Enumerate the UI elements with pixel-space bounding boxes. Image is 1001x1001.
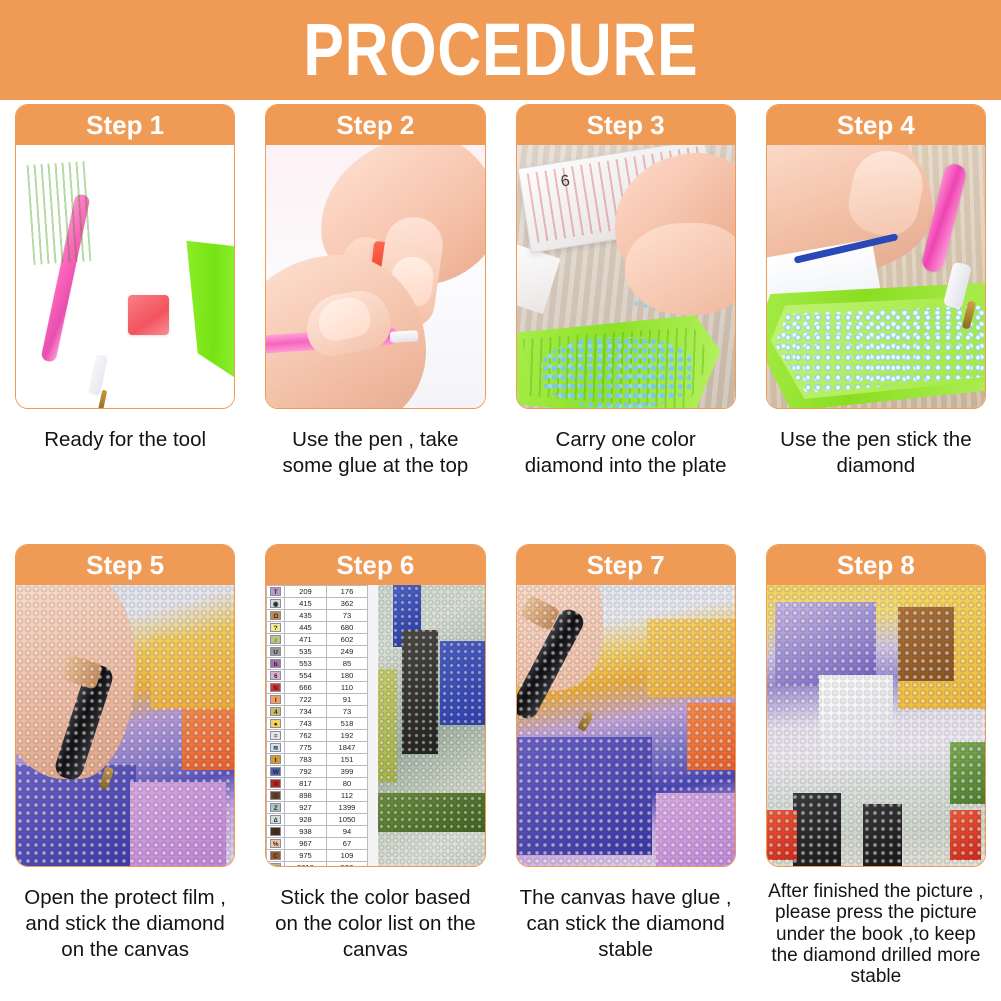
step-badge-4: Step 4 xyxy=(767,105,985,145)
step-cell-5: Step 5 Open the protect film , and xyxy=(0,544,250,1001)
color-code-cell: 783 xyxy=(285,754,327,766)
color-symbol-cell: ≋ xyxy=(267,742,285,754)
white-region xyxy=(819,675,893,771)
pen-tip-icon xyxy=(390,330,419,342)
step-cell-8: Step 8 After finished xyxy=(751,544,1001,1001)
yellow-region xyxy=(151,636,234,709)
color-count-cell: 67 xyxy=(326,838,368,850)
color-swatch: C xyxy=(270,851,281,860)
color-code-row: 473473 xyxy=(267,706,368,718)
step-card-6: Step 6 T209176◉415362Ω43573?445680♪47160… xyxy=(265,544,485,867)
color-symbol-cell: Y xyxy=(267,862,285,867)
color-swatch: % xyxy=(270,839,281,848)
dark-region xyxy=(402,630,438,754)
step-card-3: Step 3 6 xyxy=(516,104,736,409)
color-code-cell: 471 xyxy=(285,634,327,646)
color-code-cell: 535 xyxy=(285,646,327,658)
color-swatch: ✕ xyxy=(270,779,281,788)
color-code-cell: 722 xyxy=(285,694,327,706)
color-symbol-cell: N xyxy=(267,682,285,694)
color-code-row: 6554180 xyxy=(267,670,368,682)
color-code-cell: 734 xyxy=(285,706,327,718)
color-symbol-cell: ◉ xyxy=(267,598,285,610)
step-image-7 xyxy=(517,585,735,866)
step-caption-6: Stick the color based on the color list … xyxy=(265,885,485,964)
color-symbol-cell: W xyxy=(267,766,285,778)
green-region xyxy=(378,793,484,832)
canvas-mosaic xyxy=(16,585,234,866)
step-badge-label: Step 5 xyxy=(86,552,164,578)
yellow-region xyxy=(647,619,734,698)
step-caption-3: Carry one color diamond into the plate xyxy=(516,427,736,479)
step-card-1: Step 1 xyxy=(15,104,235,409)
color-code-cell: 775 xyxy=(285,742,327,754)
color-count-cell: 80 xyxy=(326,778,368,790)
color-code-cell: 817 xyxy=(285,778,327,790)
step-badge-label: Step 4 xyxy=(837,112,915,138)
color-count-cell: 1050 xyxy=(326,814,368,826)
color-code-row: N666110 xyxy=(267,682,368,694)
dark-figure-region xyxy=(863,804,902,866)
steps-grid: Step 1 Ready for the tool xyxy=(0,104,1001,1001)
color-swatch: ● xyxy=(270,719,281,728)
color-symbol-cell: G xyxy=(267,790,285,802)
color-swatch: Z xyxy=(270,803,281,812)
step-badge-label: Step 6 xyxy=(336,552,414,578)
color-symbol-cell: 6 xyxy=(267,670,285,682)
color-symbol-cell: I xyxy=(267,694,285,706)
color-code-row: b55385 xyxy=(267,658,368,670)
color-code-row: Ω43573 xyxy=(267,610,368,622)
color-symbol-cell: 4 xyxy=(267,706,285,718)
color-count-cell: 109 xyxy=(326,850,368,862)
color-symbol-cell: = xyxy=(267,730,285,742)
color-count-cell: 112 xyxy=(326,790,368,802)
tool-set-illustration xyxy=(16,145,234,408)
finished-canvas-mosaic xyxy=(767,585,985,866)
step-badge-3: Step 3 xyxy=(517,105,735,145)
step-cell-6: Step 6 T209176◉415362Ω43573?445680♪47160… xyxy=(250,544,500,1001)
color-symbol-cell: 3 xyxy=(267,826,285,838)
color-count-cell: 91 xyxy=(326,694,368,706)
step-badge-1: Step 1 xyxy=(16,105,234,145)
blue-region xyxy=(517,737,652,855)
color-code-cell: 743 xyxy=(285,718,327,730)
fingers-icon xyxy=(625,223,735,315)
color-symbol-cell: t xyxy=(267,754,285,766)
violet-region xyxy=(656,793,735,866)
color-count-cell: 518 xyxy=(326,718,368,730)
color-code-cell: 967 xyxy=(285,838,327,850)
color-swatch: b xyxy=(270,659,281,668)
step-caption-2: Use the pen , take some glue at the top xyxy=(265,427,485,479)
color-swatch: W xyxy=(270,767,281,776)
color-swatch: ◉ xyxy=(270,599,281,608)
color-code-table-body: T209176◉415362Ω43573?445680♪471602U53524… xyxy=(267,586,368,867)
color-code-row: 393894 xyxy=(267,826,368,838)
canvas-mosaic xyxy=(517,585,735,866)
color-code-cell: 3013 xyxy=(285,862,327,867)
step-cell-3: Step 3 6 xyxy=(501,104,751,544)
blue-region xyxy=(440,641,485,725)
color-code-cell: 938 xyxy=(285,826,327,838)
color-code-row: T209176 xyxy=(267,586,368,598)
step-cell-1: Step 1 Ready for the tool xyxy=(0,104,250,544)
color-swatch: t xyxy=(270,755,281,764)
color-symbol-cell: ● xyxy=(267,718,285,730)
step-card-8: Step 8 xyxy=(766,544,986,867)
color-count-cell: 73 xyxy=(326,706,368,718)
step-badge-label: Step 8 xyxy=(837,552,915,578)
step-caption-4: Use the pen stick the diamond xyxy=(766,427,986,479)
glue-wax-square-icon xyxy=(128,295,169,335)
color-code-row: I72291 xyxy=(267,694,368,706)
pick-diamond-photo xyxy=(767,145,985,408)
step-caption-5: Open the protect film , and stick the di… xyxy=(15,885,235,964)
color-swatch: ? xyxy=(270,623,281,632)
color-swatch: Ω xyxy=(270,611,281,620)
step-card-5: Step 5 xyxy=(15,544,235,867)
step-badge-2: Step 2 xyxy=(266,105,484,145)
pen-into-glue-photo xyxy=(266,145,484,408)
color-symbol-cell: % xyxy=(267,838,285,850)
green-region xyxy=(950,742,985,804)
color-code-row: Z9271399 xyxy=(267,802,368,814)
color-symbol-cell: ? xyxy=(267,622,285,634)
color-code-row: C975109 xyxy=(267,850,368,862)
color-symbol-cell: T xyxy=(267,586,285,598)
blue-region xyxy=(16,765,136,866)
step-badge-label: Step 7 xyxy=(587,552,665,578)
red-region xyxy=(950,810,981,861)
color-count-cell: 192 xyxy=(326,730,368,742)
color-symbol-cell: ∆ xyxy=(267,814,285,826)
olive-region xyxy=(378,669,397,781)
color-swatch: I xyxy=(270,695,281,704)
color-swatch: U xyxy=(270,647,281,656)
color-swatch: ≋ xyxy=(270,743,281,752)
color-swatch: Y xyxy=(270,863,281,866)
color-symbol-cell: C xyxy=(267,850,285,862)
step-card-7: Step 7 xyxy=(516,544,736,867)
color-symbol-cell: ✕ xyxy=(267,778,285,790)
color-symbol-cell: b xyxy=(267,658,285,670)
color-count-cell: 176 xyxy=(326,586,368,598)
step-image-4 xyxy=(767,145,985,408)
step-card-2: Step 2 xyxy=(265,104,485,409)
page-header-banner: PROCEDURE xyxy=(0,0,1001,100)
color-code-row: Y3013526 xyxy=(267,862,368,867)
step-card-4: Step 4 xyxy=(766,104,986,409)
color-code-cell: 792 xyxy=(285,766,327,778)
step-image-8 xyxy=(767,585,985,866)
step-badge-6: Step 6 xyxy=(266,545,484,585)
color-count-cell: 180 xyxy=(326,670,368,682)
dark-figure-region xyxy=(793,793,841,866)
color-count-cell: 151 xyxy=(326,754,368,766)
blue-diamonds-icon xyxy=(541,337,691,408)
tray-grooves-icon xyxy=(27,161,92,265)
step-image-5 xyxy=(16,585,234,866)
red-region xyxy=(767,810,798,861)
canvas-mosaic xyxy=(378,585,484,866)
page-title: PROCEDURE xyxy=(303,13,698,87)
color-code-row: ●743518 xyxy=(267,718,368,730)
color-code-row: ✕81780 xyxy=(267,778,368,790)
step-badge-8: Step 8 xyxy=(767,545,985,585)
step-caption-1: Ready for the tool xyxy=(15,427,235,453)
color-count-cell: 399 xyxy=(326,766,368,778)
color-count-cell: 680 xyxy=(326,622,368,634)
color-code-cell: 975 xyxy=(285,850,327,862)
pen-metal-nib-icon xyxy=(576,710,593,732)
color-code-row: ?445680 xyxy=(267,622,368,634)
color-count-cell: 85 xyxy=(326,658,368,670)
color-code-row: W792399 xyxy=(267,766,368,778)
color-swatch: 6 xyxy=(270,671,281,680)
color-code-row: =762192 xyxy=(267,730,368,742)
color-count-cell: 602 xyxy=(326,634,368,646)
color-swatch: G xyxy=(270,791,281,800)
violet-region xyxy=(130,782,226,866)
color-count-cell: 526 xyxy=(326,862,368,867)
color-list-and-canvas: T209176◉415362Ω43573?445680♪471602U53524… xyxy=(266,585,484,866)
step-badge-label: Step 1 xyxy=(86,112,164,138)
color-code-cell: 554 xyxy=(285,670,327,682)
orange-region xyxy=(182,709,234,771)
color-code-row: U535249 xyxy=(267,646,368,658)
color-count-cell: 110 xyxy=(326,682,368,694)
color-symbol-cell: Z xyxy=(267,802,285,814)
color-swatch: N xyxy=(270,683,281,692)
color-swatch: ♪ xyxy=(270,635,281,644)
blue-region xyxy=(393,585,421,647)
step-image-2 xyxy=(266,145,484,408)
step-cell-2: Step 2 xyxy=(250,104,500,544)
color-count-cell: 249 xyxy=(326,646,368,658)
color-code-row: G898112 xyxy=(267,790,368,802)
color-code-row: ◉415362 xyxy=(267,598,368,610)
color-code-row: ♪471602 xyxy=(267,634,368,646)
color-code-cell: 553 xyxy=(285,658,327,670)
color-swatch: 3 xyxy=(270,827,281,836)
color-symbol-cell: U xyxy=(267,646,285,658)
color-swatch: 4 xyxy=(270,707,281,716)
color-count-cell: 1399 xyxy=(326,802,368,814)
step-caption-8: After finished the picture , please pres… xyxy=(766,881,986,987)
brown-region xyxy=(898,607,955,680)
green-tray-icon xyxy=(186,235,234,380)
table-canvas-divider xyxy=(368,585,378,866)
color-code-row: ∆9281050 xyxy=(267,814,368,826)
color-code-cell: 898 xyxy=(285,790,327,802)
step-cell-7: Step 7 The canvas have glue , can xyxy=(501,544,751,1001)
step-badge-5: Step 5 xyxy=(16,545,234,585)
step-badge-label: Step 3 xyxy=(587,112,665,138)
color-code-table: T209176◉415362Ω43573?445680♪471602U53524… xyxy=(266,585,368,866)
pour-diamonds-photo: 6 xyxy=(517,145,735,408)
color-swatch: T xyxy=(270,587,281,596)
step-caption-7: The canvas have glue , can stick the dia… xyxy=(516,885,736,964)
orange-region xyxy=(687,703,735,770)
color-code-cell: 666 xyxy=(285,682,327,694)
color-count-cell: 73 xyxy=(326,610,368,622)
color-code-cell: 415 xyxy=(285,598,327,610)
color-code-cell: 762 xyxy=(285,730,327,742)
step-badge-7: Step 7 xyxy=(517,545,735,585)
color-symbol-cell: ♪ xyxy=(267,634,285,646)
step-image-1 xyxy=(16,145,234,408)
color-count-cell: 94 xyxy=(326,826,368,838)
color-code-cell: 209 xyxy=(285,586,327,598)
color-code-row: ≋7751847 xyxy=(267,742,368,754)
color-symbol-cell: Ω xyxy=(267,610,285,622)
color-code-cell: 435 xyxy=(285,610,327,622)
color-code-cell: 928 xyxy=(285,814,327,826)
procedure-infographic: PROCEDURE Step 1 xyxy=(0,0,1001,1001)
color-swatch: = xyxy=(270,731,281,740)
color-count-cell: 362 xyxy=(326,598,368,610)
color-code-cell: 445 xyxy=(285,622,327,634)
step-image-6: T209176◉415362Ω43573?445680♪471602U53524… xyxy=(266,585,484,866)
canvas-partial xyxy=(378,585,484,866)
step-cell-4: Step 4 xyxy=(751,104,1001,544)
step-badge-label: Step 2 xyxy=(336,112,414,138)
color-swatch: ∆ xyxy=(270,815,281,824)
color-code-row: %96767 xyxy=(267,838,368,850)
color-code-cell: 927 xyxy=(285,802,327,814)
color-count-cell: 1847 xyxy=(326,742,368,754)
violet-umbrella-region xyxy=(775,602,875,686)
step-image-3: 6 xyxy=(517,145,735,408)
color-code-row: t783151 xyxy=(267,754,368,766)
